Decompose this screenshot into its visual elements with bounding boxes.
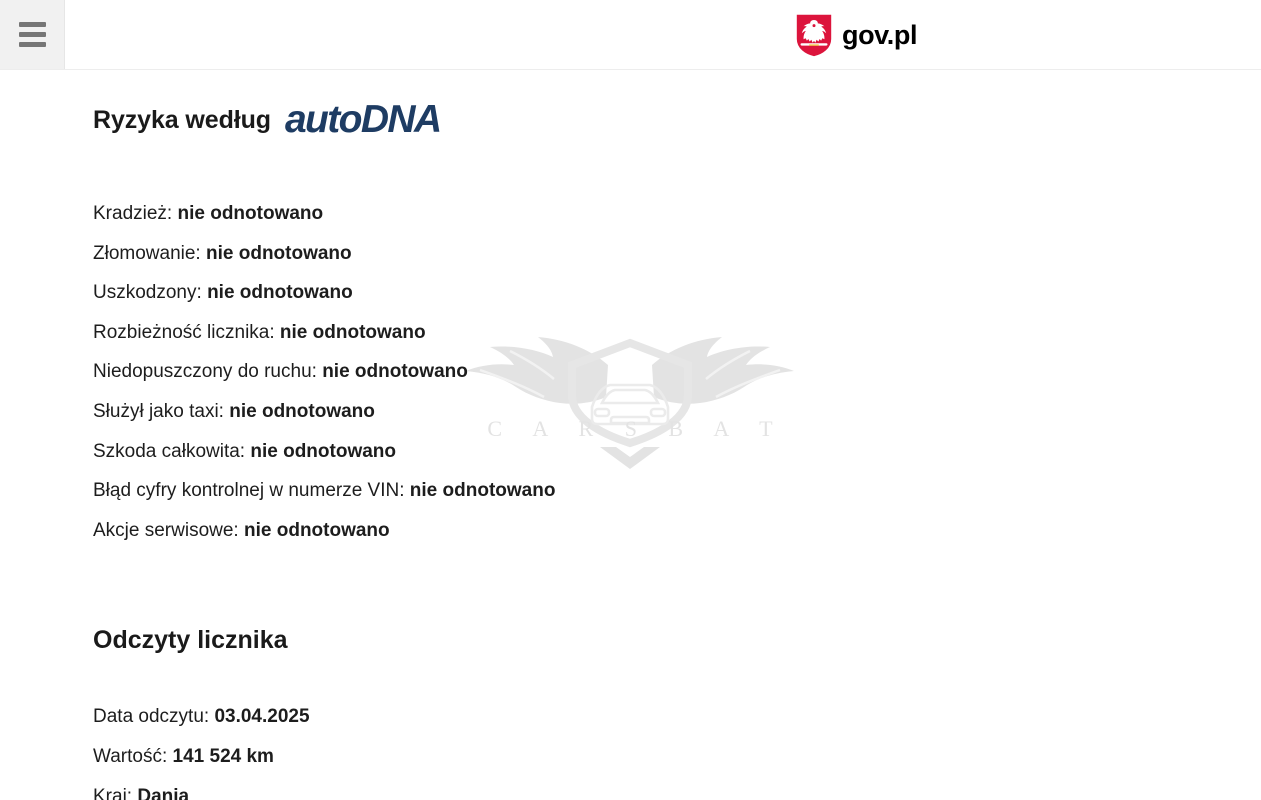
risk-label: Złomowanie: — [93, 243, 201, 264]
gov-pl-brand-text: gov.pl — [842, 22, 917, 49]
risk-label: Kradzież: — [93, 203, 172, 224]
odometer-readings-list: Data odczytu: 03.04.2025 Wartość: 141 52… — [93, 697, 1261, 800]
risk-label: Niedopuszczony do ruchu: — [93, 361, 317, 382]
odometer-label: Wartość: — [93, 746, 167, 767]
main-content: Ryzyka według autoDNA Kradzież: nie odno… — [0, 70, 1261, 800]
risk-label: Rozbieżność licznika: — [93, 322, 275, 343]
risk-value: nie odnotowano — [244, 520, 390, 541]
risk-item-niedopuszczony-do-ruchu: Niedopuszczony do ruchu: nie odnotowano — [93, 352, 1261, 392]
hamburger-menu-button[interactable] — [0, 0, 65, 69]
odometer-item-data-odczytu: Data odczytu: 03.04.2025 — [93, 697, 1261, 737]
risk-item-szkoda-calkowita: Szkoda całkowita: nie odnotowano — [93, 432, 1261, 472]
risk-item-akcje-serwisowe: Akcje serwisowe: nie odnotowano — [93, 511, 1261, 551]
risk-value: nie odnotowano — [206, 243, 352, 264]
site-header: gov.pl — [0, 0, 1261, 70]
polish-coat-of-arms-icon — [795, 13, 833, 58]
risk-label: Uszkodzony: — [93, 282, 202, 303]
risk-item-sluzyl-jako-taxi: Służył jako taxi: nie odnotowano — [93, 392, 1261, 432]
hamburger-menu-icon-bar-2 — [19, 32, 46, 37]
risks-page-title: Ryzyka według — [93, 108, 271, 133]
risk-value: nie odnotowano — [250, 441, 396, 462]
odometer-section-title: Odczyty licznika — [93, 628, 1261, 653]
gov-pl-brand-link[interactable]: gov.pl — [795, 11, 917, 59]
odometer-label: Data odczytu: — [93, 706, 209, 727]
risks-list: Kradzież: nie odnotowano Złomowanie: nie… — [93, 194, 1261, 550]
risk-label: Błąd cyfry kontrolnej w numerze VIN: — [93, 480, 405, 501]
autodna-logo: autoDNA — [285, 100, 441, 139]
risk-value: nie odnotowano — [280, 322, 426, 343]
risk-item-uszkodzony: Uszkodzony: nie odnotowano — [93, 273, 1261, 313]
risk-value: nie odnotowano — [207, 282, 353, 303]
hamburger-menu-icon-bar-3 — [19, 42, 46, 47]
odometer-item-kraj: Kraj: Dania — [93, 777, 1261, 800]
risk-item-blad-cyfry-kontrolnej-vin: Błąd cyfry kontrolnej w numerze VIN: nie… — [93, 471, 1261, 511]
risk-value: nie odnotowano — [229, 401, 375, 422]
risk-label: Szkoda całkowita: — [93, 441, 245, 462]
risk-label: Akcje serwisowe: — [93, 520, 239, 541]
risk-item-kradziez: Kradzież: nie odnotowano — [93, 194, 1261, 234]
hamburger-menu-icon — [19, 22, 46, 27]
odometer-label: Kraj: — [93, 786, 132, 800]
odometer-value: Dania — [137, 786, 189, 800]
risk-value: nie odnotowano — [322, 361, 468, 382]
odometer-value: 03.04.2025 — [214, 706, 309, 727]
risk-label: Służył jako taxi: — [93, 401, 224, 422]
risk-value: nie odnotowano — [177, 203, 323, 224]
odometer-value: 141 524 km — [173, 746, 274, 767]
odometer-item-wartosc: Wartość: 141 524 km — [93, 737, 1261, 777]
risk-item-zlomowanie: Złomowanie: nie odnotowano — [93, 234, 1261, 274]
risks-heading-row: Ryzyka według autoDNA — [93, 96, 1261, 142]
page-root: gov.pl — [0, 0, 1261, 800]
risk-item-rozbieznosc-licznika: Rozbieżność licznika: nie odnotowano — [93, 313, 1261, 353]
risk-value: nie odnotowano — [410, 480, 556, 501]
